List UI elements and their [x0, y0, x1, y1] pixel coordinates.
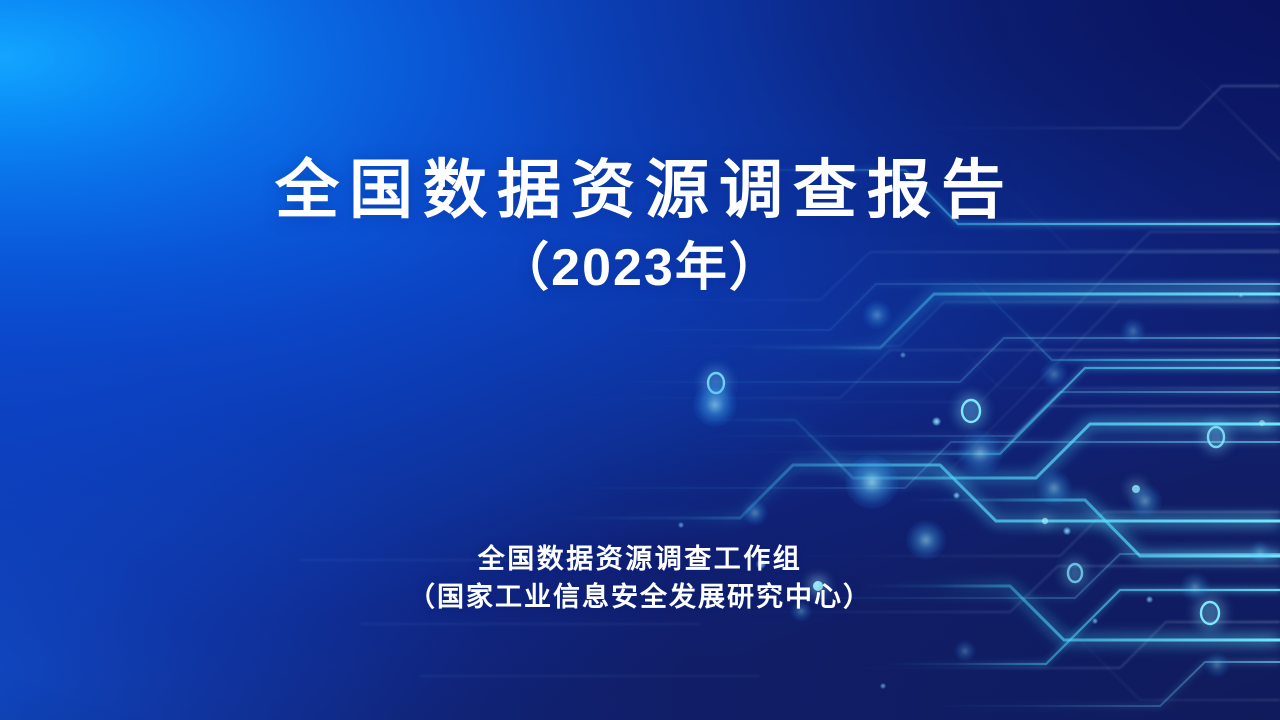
title-block: 全国数据资源调查报告 （2023年） [0, 148, 1280, 304]
cover-slide: 全国数据资源调查报告 （2023年） 全国数据资源调查工作组 （国家工业信息安全… [0, 0, 1280, 720]
report-year: （2023年） [0, 232, 1280, 304]
organization-secondary: （国家工业信息安全发展研究中心） [0, 578, 1280, 616]
organization-block: 全国数据资源调查工作组 （国家工业信息安全发展研究中心） [0, 540, 1280, 616]
organization-primary: 全国数据资源调查工作组 [0, 540, 1280, 578]
cover-content: 全国数据资源调查报告 （2023年） 全国数据资源调查工作组 （国家工业信息安全… [0, 0, 1280, 720]
report-title: 全国数据资源调查报告 [0, 148, 1280, 232]
